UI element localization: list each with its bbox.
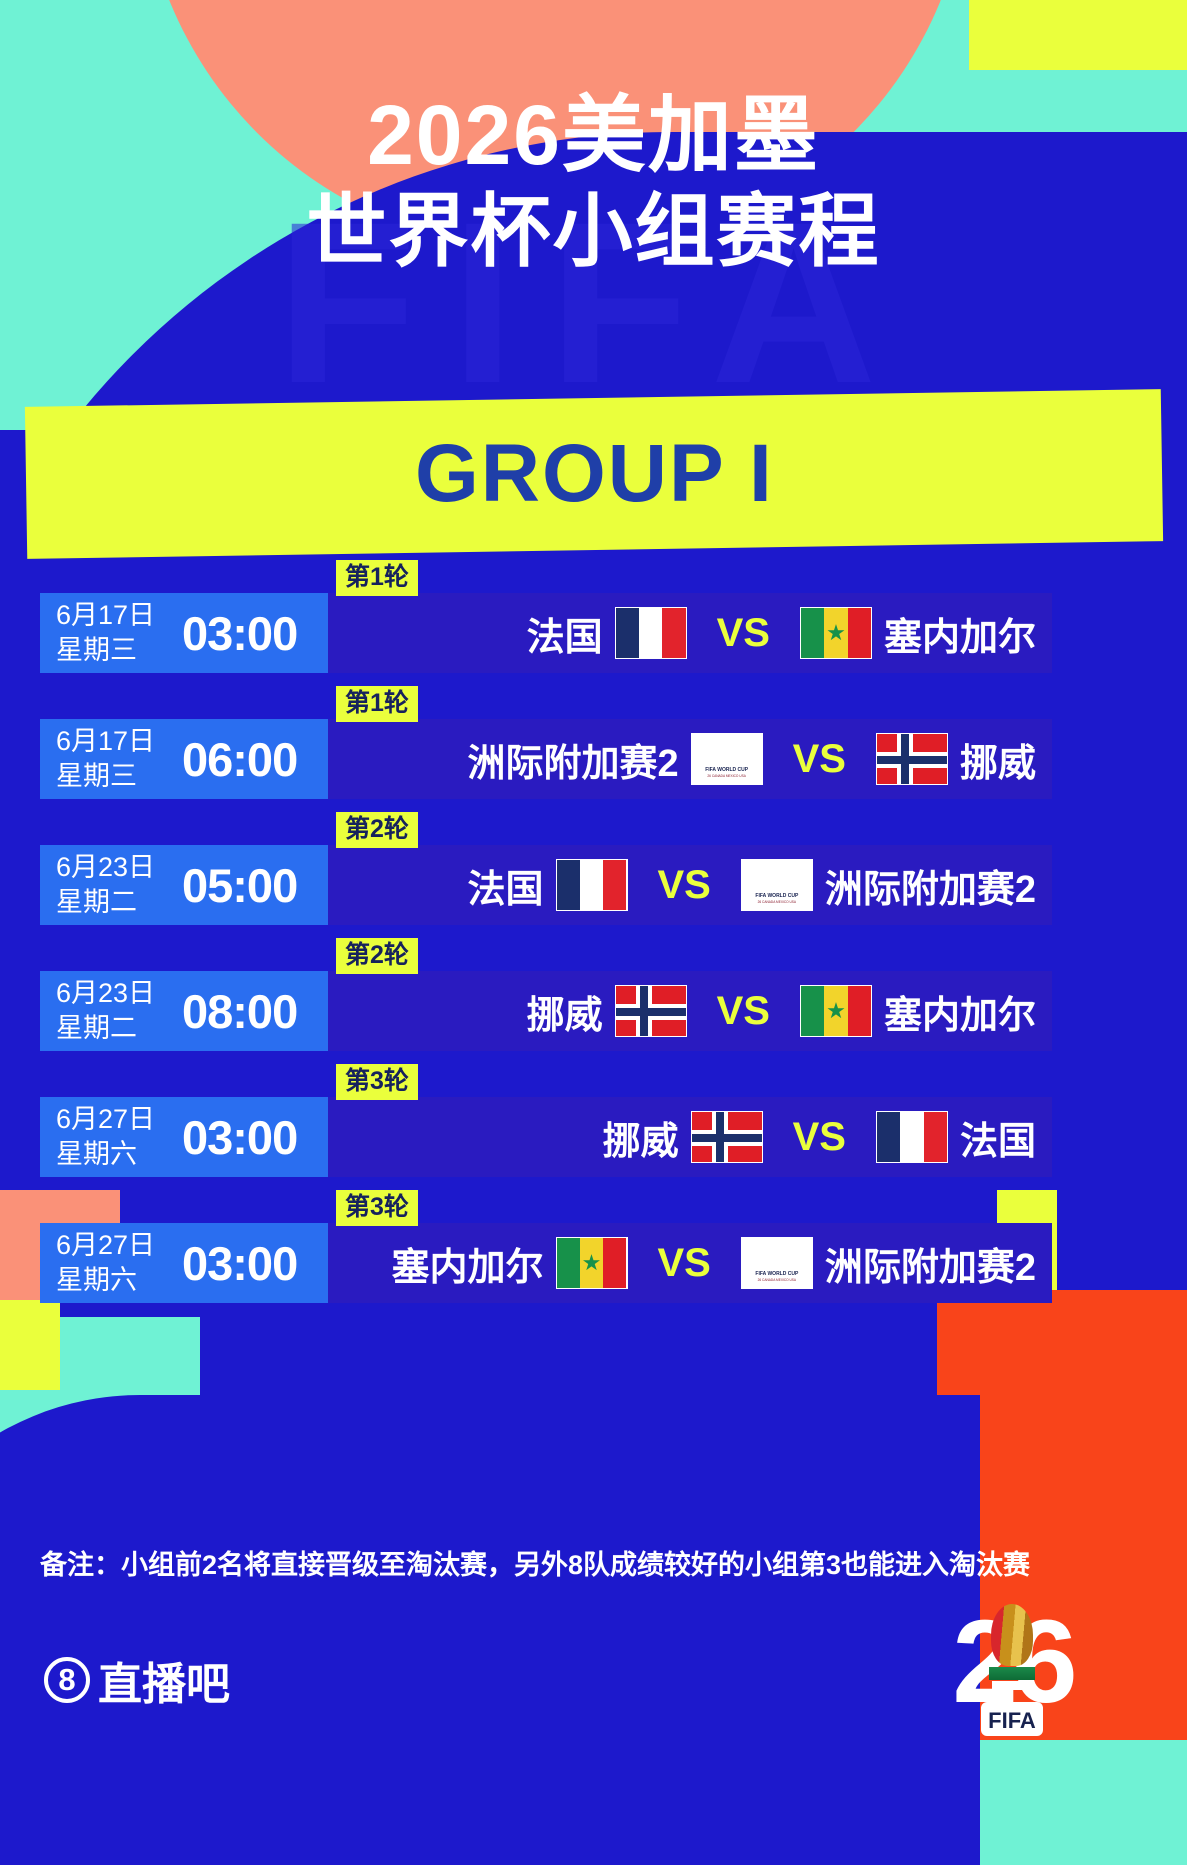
away-team-name: 塞内加尔 — [884, 606, 1036, 661]
blue-right-accent — [1057, 1190, 1187, 1295]
round-badge: 第1轮 — [336, 560, 418, 596]
match-date-weekday: 星期二 — [56, 885, 176, 920]
title-line-1: 2026美加墨 — [0, 86, 1187, 185]
brand-logo: 8 直播吧 — [44, 1648, 230, 1712]
match-date-weekday: 星期二 — [56, 1011, 176, 1046]
fifa-2026-logo: 26 FIFA — [947, 1588, 1077, 1736]
home-team-name: 法国 — [527, 606, 603, 661]
home-team-name: 挪威 — [603, 1110, 679, 1165]
match-date-weekday: 星期三 — [56, 633, 176, 668]
fifa-world-cup-logo-icon: FIFA WORLD CUP26 CANADA MEXICO USA — [741, 1237, 813, 1289]
round-badge: 第2轮 — [336, 938, 418, 974]
vs-label: VS — [717, 989, 770, 1034]
flag-norway-icon — [691, 1111, 763, 1163]
world-cup-trophy-icon — [987, 1604, 1037, 1712]
match-date-day: 6月17日 — [56, 724, 176, 759]
title-line-2: 世界杯小组赛程 — [0, 185, 1187, 279]
match-teams: 法国VSFIFA WORLD CUP26 CANADA MEXICO USA洲际… — [328, 845, 1052, 925]
fifa-wordmark: FIFA — [947, 1708, 1077, 1734]
match-date: 6月27日星期六 — [56, 1228, 176, 1297]
away-team-name: 洲际附加赛2 — [825, 1236, 1036, 1291]
brand-name: 直播吧 — [98, 1648, 230, 1712]
blue-bottom-shape — [0, 1395, 980, 1865]
match-date: 6月27日星期六 — [56, 1102, 176, 1171]
match-time: 06:00 — [182, 732, 297, 787]
match-row-body: 6月27日星期六03:00挪威VS法国 — [40, 1097, 1052, 1177]
match-row-body: 6月17日星期三03:00法国VS★塞内加尔 — [40, 593, 1052, 673]
match-date-day: 6月23日 — [56, 850, 176, 885]
vs-label: VS — [793, 1115, 846, 1160]
page-title: 2026美加墨 世界杯小组赛程 — [0, 86, 1187, 280]
away-team-name: 塞内加尔 — [884, 984, 1036, 1039]
away-team-name: 洲际附加赛2 — [825, 858, 1036, 913]
round-badge: 第3轮 — [336, 1190, 418, 1226]
match-row-body: 6月17日星期三06:00洲际附加赛2FIFA WORLD CUP26 CANA… — [40, 719, 1052, 799]
home-team-name: 法国 — [467, 858, 543, 913]
match-date-weekday: 星期三 — [56, 759, 176, 794]
home-team-name: 塞内加尔 — [391, 1236, 543, 1291]
match-teams: 塞内加尔★VSFIFA WORLD CUP26 CANADA MEXICO US… — [328, 1223, 1052, 1303]
flag-senegal-icon: ★ — [800, 607, 872, 659]
match-teams: 挪威VS法国 — [328, 1097, 1052, 1177]
match-date-day: 6月27日 — [56, 1228, 176, 1263]
match-schedule-list: 第1轮6月17日星期三03:00法国VS★塞内加尔第1轮6月17日星期三06:0… — [40, 560, 1052, 1316]
match-time: 05:00 — [182, 858, 297, 913]
match-datetime: 6月27日星期六03:00 — [40, 1097, 328, 1177]
match-datetime: 6月23日星期二08:00 — [40, 971, 328, 1051]
match-row[interactable]: 第2轮6月23日星期二05:00法国VSFIFA WORLD CUP26 CAN… — [40, 812, 1052, 938]
vs-label: VS — [658, 1241, 711, 1286]
flag-senegal-icon: ★ — [556, 1237, 628, 1289]
match-row[interactable]: 第2轮6月23日星期二08:00挪威VS★塞内加尔 — [40, 938, 1052, 1064]
match-row-body: 6月23日星期二08:00挪威VS★塞内加尔 — [40, 971, 1052, 1051]
away-team-name: 法国 — [960, 1110, 1036, 1165]
match-date-weekday: 星期六 — [56, 1137, 176, 1172]
round-badge: 第2轮 — [336, 812, 418, 848]
flag-norway-icon — [615, 985, 687, 1037]
round-badge: 第3轮 — [336, 1064, 418, 1100]
match-date-day: 6月27日 — [56, 1102, 176, 1137]
match-time: 03:00 — [182, 606, 297, 661]
match-date-day: 6月23日 — [56, 976, 176, 1011]
match-time: 03:00 — [182, 1110, 297, 1165]
group-banner: GROUP I — [25, 389, 1163, 559]
group-label: GROUP I — [415, 427, 774, 521]
match-date: 6月17日星期三 — [56, 724, 176, 793]
vs-label: VS — [717, 611, 770, 656]
match-date-day: 6月17日 — [56, 598, 176, 633]
match-date: 6月17日星期三 — [56, 598, 176, 667]
flag-norway-icon — [876, 733, 948, 785]
vs-label: VS — [793, 737, 846, 782]
flag-senegal-icon: ★ — [800, 985, 872, 1037]
yellow-corner-top-right — [969, 0, 1187, 70]
away-team-name: 挪威 — [960, 732, 1036, 787]
match-datetime: 6月23日星期二05:00 — [40, 845, 328, 925]
match-date: 6月23日星期二 — [56, 976, 176, 1045]
match-teams: 法国VS★塞内加尔 — [328, 593, 1052, 673]
vs-label: VS — [658, 863, 711, 908]
match-row[interactable]: 第3轮6月27日星期六03:00挪威VS法国 — [40, 1064, 1052, 1190]
match-row-body: 6月27日星期六03:00塞内加尔★VSFIFA WORLD CUP26 CAN… — [40, 1223, 1052, 1303]
fifa-world-cup-logo-icon: FIFA WORLD CUP26 CANADA MEXICO USA — [741, 859, 813, 911]
match-row[interactable]: 第1轮6月17日星期三06:00洲际附加赛2FIFA WORLD CUP26 C… — [40, 686, 1052, 812]
footer-note: 备注：小组前2名将直接晋级至淘汰赛，另外8队成绩较好的小组第3也能进入淘汰赛 — [40, 1543, 1150, 1582]
brand-mark-icon: 8 — [44, 1657, 90, 1703]
match-datetime: 6月17日星期三06:00 — [40, 719, 328, 799]
match-row[interactable]: 第3轮6月27日星期六03:00塞内加尔★VSFIFA WORLD CUP26 … — [40, 1190, 1052, 1316]
match-teams: 洲际附加赛2FIFA WORLD CUP26 CANADA MEXICO USA… — [328, 719, 1052, 799]
match-date: 6月23日星期二 — [56, 850, 176, 919]
match-time: 08:00 — [182, 984, 297, 1039]
home-team-name: 洲际附加赛2 — [467, 732, 678, 787]
match-row-body: 6月23日星期二05:00法国VSFIFA WORLD CUP26 CANADA… — [40, 845, 1052, 925]
match-datetime: 6月17日星期三03:00 — [40, 593, 328, 673]
match-row[interactable]: 第1轮6月17日星期三03:00法国VS★塞内加尔 — [40, 560, 1052, 686]
flag-france-icon — [615, 607, 687, 659]
flag-france-icon — [876, 1111, 948, 1163]
match-teams: 挪威VS★塞内加尔 — [328, 971, 1052, 1051]
match-time: 03:00 — [182, 1236, 297, 1291]
fifa-world-cup-logo-icon: FIFA WORLD CUP26 CANADA MEXICO USA — [691, 733, 763, 785]
match-datetime: 6月27日星期六03:00 — [40, 1223, 328, 1303]
home-team-name: 挪威 — [527, 984, 603, 1039]
flag-france-icon — [556, 859, 628, 911]
round-badge: 第1轮 — [336, 686, 418, 722]
match-date-weekday: 星期六 — [56, 1263, 176, 1298]
